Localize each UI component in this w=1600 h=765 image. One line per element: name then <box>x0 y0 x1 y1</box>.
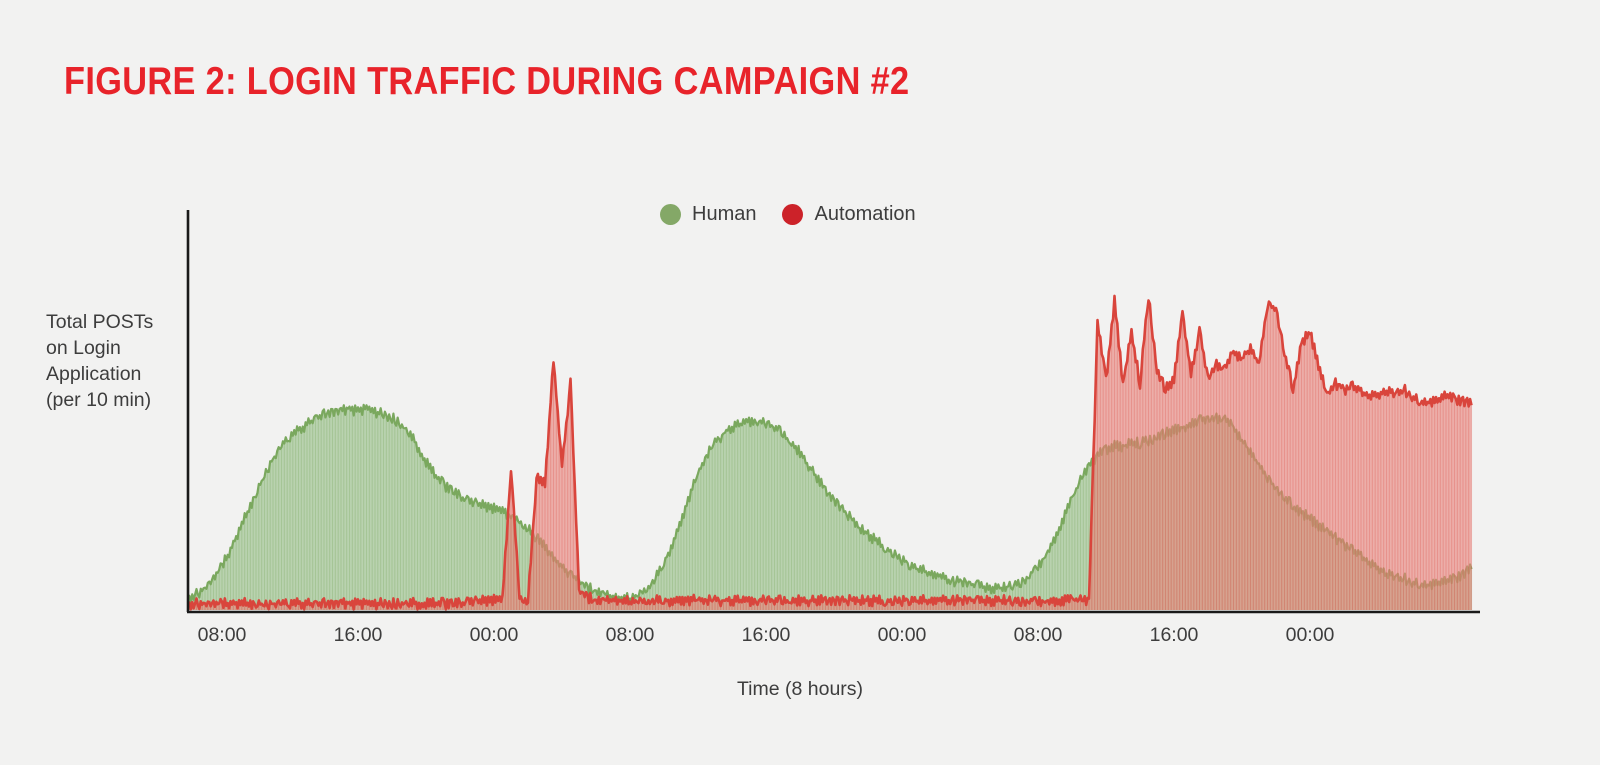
x-tick-label: 08:00 <box>606 624 655 647</box>
plot-area <box>0 0 1600 765</box>
x-tick-label: 16:00 <box>334 624 383 647</box>
x-tick-label: 16:00 <box>1150 624 1199 647</box>
figure-container: FIGURE 2: LOGIN TRAFFIC DURING CAMPAIGN … <box>0 0 1600 765</box>
x-axis-tick-labels: 08:0016:0000:0008:0016:0000:0008:0016:00… <box>0 624 1600 650</box>
x-tick-label: 16:00 <box>742 624 791 647</box>
chart-svg <box>0 0 1600 765</box>
x-tick-label: 00:00 <box>470 624 519 647</box>
x-tick-label: 00:00 <box>878 624 927 647</box>
x-tick-label: 00:00 <box>1286 624 1335 647</box>
x-axis-title: Time (8 hours) <box>0 678 1600 701</box>
x-tick-label: 08:00 <box>198 624 247 647</box>
x-tick-label: 08:00 <box>1014 624 1063 647</box>
